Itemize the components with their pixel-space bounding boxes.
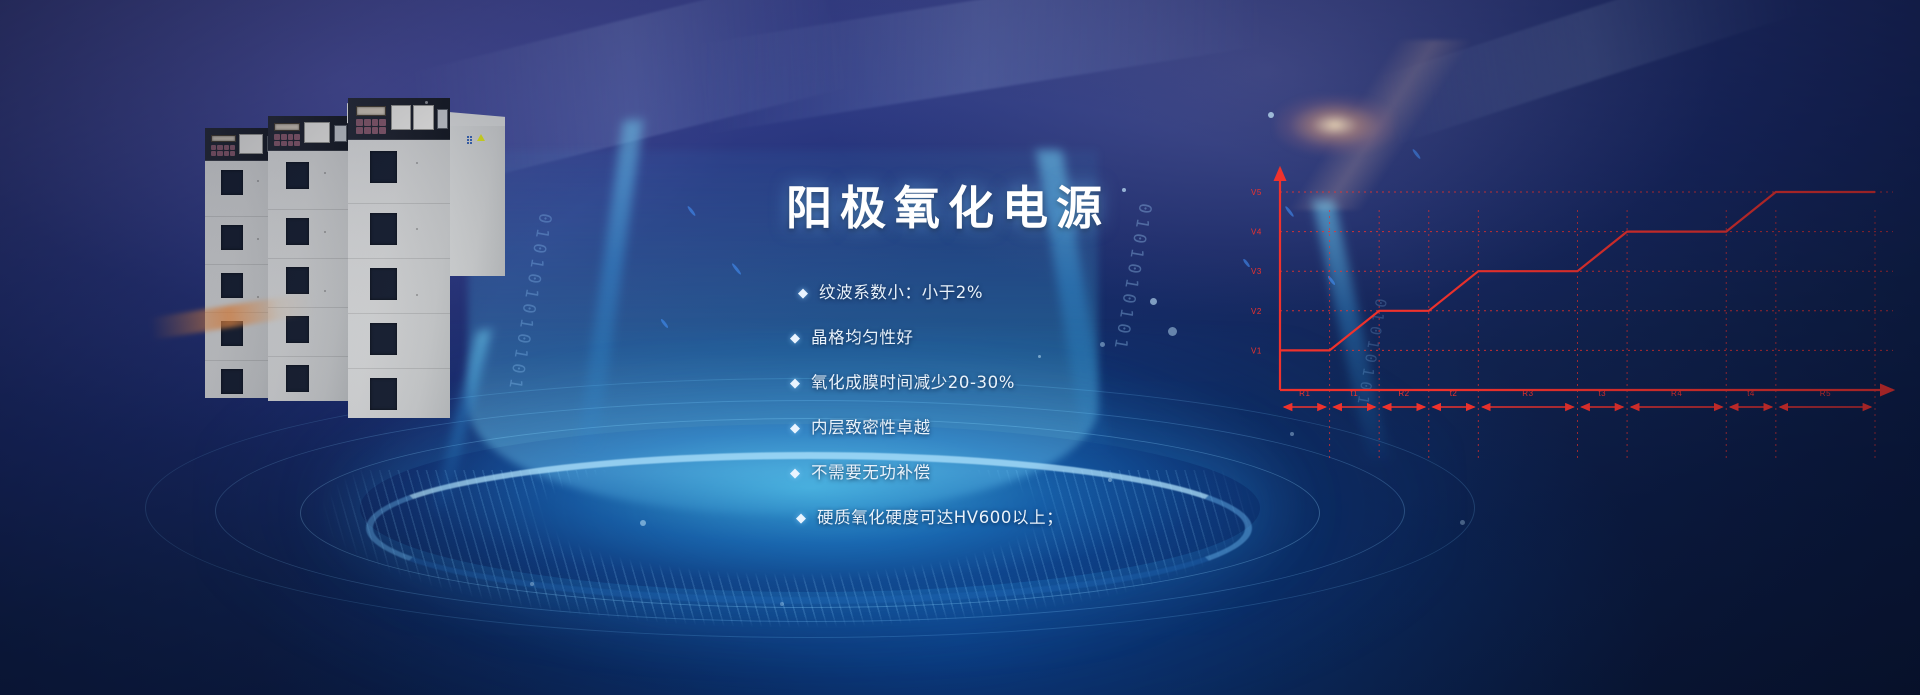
cabinet-screw	[416, 162, 418, 164]
cabinet-screw	[324, 231, 326, 233]
cabinet-seam	[268, 258, 353, 259]
cabinet-seam	[268, 209, 353, 210]
particle	[530, 582, 534, 586]
diamond-bullet-icon: ◆	[790, 418, 800, 438]
cabinet-lcd-display	[356, 106, 386, 116]
cabinet-vent	[221, 273, 243, 298]
list-item: ◆ 氧化成膜时间减少20-30%	[790, 373, 1260, 393]
chart-y-tick-label: V5	[1251, 188, 1262, 197]
cabinet-keypad	[211, 145, 235, 156]
chart-segment-label: t3	[1598, 389, 1606, 398]
list-item-label: 晶格均匀性好	[811, 328, 914, 348]
cabinet-vent	[370, 213, 397, 245]
chart-segment-label: R1	[1299, 389, 1310, 398]
cabinet-screw	[416, 294, 418, 296]
cabinet-lcd-display	[274, 123, 300, 131]
chart-y-tick-label: V2	[1251, 307, 1262, 316]
cabinet-lcd-display	[211, 135, 236, 142]
particle	[640, 520, 646, 526]
cabinet-label-plate	[304, 122, 330, 143]
cabinet-meter	[437, 109, 448, 129]
chart-segment-label: t2	[1450, 389, 1458, 398]
chart-segment-label: R3	[1522, 389, 1533, 398]
chart-gridlines	[1280, 192, 1893, 350]
particle	[1460, 520, 1465, 525]
cabinet-keypad	[274, 134, 300, 146]
cabinet-label-plate	[413, 105, 434, 130]
cabinet-vent	[370, 151, 397, 183]
cabinet-seam	[268, 356, 353, 357]
list-item-label: 不需要无功补偿	[811, 463, 931, 483]
list-item: ◆ 硬质氧化硬度可达HV600以上；	[796, 508, 1260, 528]
cabinet-control-head	[348, 98, 450, 140]
list-item-label: 内层致密性卓越	[811, 418, 931, 438]
banner-stage: 010101010101 0101010101 01010101	[0, 0, 1920, 695]
cabinet-vent	[370, 268, 397, 300]
list-item: ◆ 纹波系数小：小于2%	[798, 283, 1260, 303]
chart-segment-label: R4	[1671, 389, 1682, 398]
cabinet-meter	[334, 125, 347, 142]
cabinet-vent	[286, 365, 309, 392]
list-item-label: 氧化成膜时间减少20-30%	[811, 373, 1015, 393]
warning-triangle-icon	[477, 134, 485, 141]
cabinet-keypad	[356, 119, 386, 134]
voltage-step-chart: V1V2V3V4V5 R1t1R2t2R3t3R4t4R5	[1245, 150, 1905, 480]
cabinet-middle	[268, 116, 353, 401]
chart-y-tick-label: V3	[1251, 267, 1262, 276]
cabinet-vent	[286, 267, 309, 294]
chart-segment-label: t4	[1747, 389, 1755, 398]
diamond-bullet-icon: ◆	[798, 283, 808, 303]
cabinet-label-plate	[239, 134, 263, 154]
cabinet-seam	[348, 203, 450, 204]
feature-list: ◆ 纹波系数小：小于2% ◆ 晶格均匀性好 ◆ 氧化成膜时间减少20-30% ◆…	[790, 283, 1260, 553]
particle	[1122, 188, 1126, 192]
chart-segment-label: R2	[1398, 389, 1409, 398]
lens-flare-icon	[1275, 95, 1395, 155]
chart-svg: V1V2V3V4V5 R1t1R2t2R3t3R4t4R5	[1245, 150, 1905, 480]
cabinet-vent	[221, 369, 243, 394]
list-item: ◆ 晶格均匀性好	[790, 328, 1260, 348]
cabinet-vent	[286, 218, 309, 245]
cabinet-screw	[257, 238, 259, 240]
list-item-label: 纹波系数小：小于2%	[819, 283, 983, 303]
cabinet-seam	[348, 258, 450, 259]
cabinet-screw	[416, 228, 418, 230]
cabinet-indicator-leds	[467, 136, 472, 144]
page-title: 阳极氧化电源	[786, 172, 1110, 238]
cabinet-screw	[425, 101, 428, 104]
chart-vlines	[1330, 210, 1875, 460]
cabinet-screw	[324, 290, 326, 292]
cabinet-screw	[257, 296, 259, 298]
cabinet-right	[348, 98, 450, 418]
cabinet-label-plate	[391, 105, 411, 130]
cabinet-vent	[286, 316, 309, 343]
chart-y-tick-label: V4	[1251, 228, 1262, 237]
cabinet-vent	[370, 323, 397, 355]
list-item-label: 硬质氧化硬度可达HV600以上；	[817, 508, 1063, 528]
diamond-bullet-icon: ◆	[790, 463, 800, 483]
diamond-bullet-icon: ◆	[790, 328, 800, 348]
product-cabinets	[205, 98, 595, 438]
cabinet-side-panel	[448, 126, 505, 276]
cabinet-vent	[286, 162, 309, 189]
cabinet-vent	[221, 225, 243, 250]
particle	[780, 602, 784, 606]
cabinet-screw	[257, 180, 259, 182]
chart-y-tick-label: V1	[1251, 346, 1262, 355]
chart-segment-label: t1	[1351, 389, 1359, 398]
cabinet-seam	[348, 313, 450, 314]
cabinet-vent	[370, 378, 397, 410]
list-item: ◆ 不需要无功补偿	[790, 463, 1260, 483]
particle	[1268, 112, 1274, 118]
cabinet-vent	[221, 170, 243, 195]
list-item: ◆ 内层致密性卓越	[790, 418, 1260, 438]
chart-segment-label: R5	[1820, 389, 1831, 398]
diamond-bullet-icon: ◆	[790, 373, 800, 393]
cabinet-screw	[324, 172, 326, 174]
cabinet-seam	[348, 368, 450, 369]
diamond-bullet-icon: ◆	[796, 508, 806, 528]
chart-y-tick-labels: V1V2V3V4V5	[1251, 188, 1262, 355]
cabinet-control-head	[268, 116, 353, 151]
